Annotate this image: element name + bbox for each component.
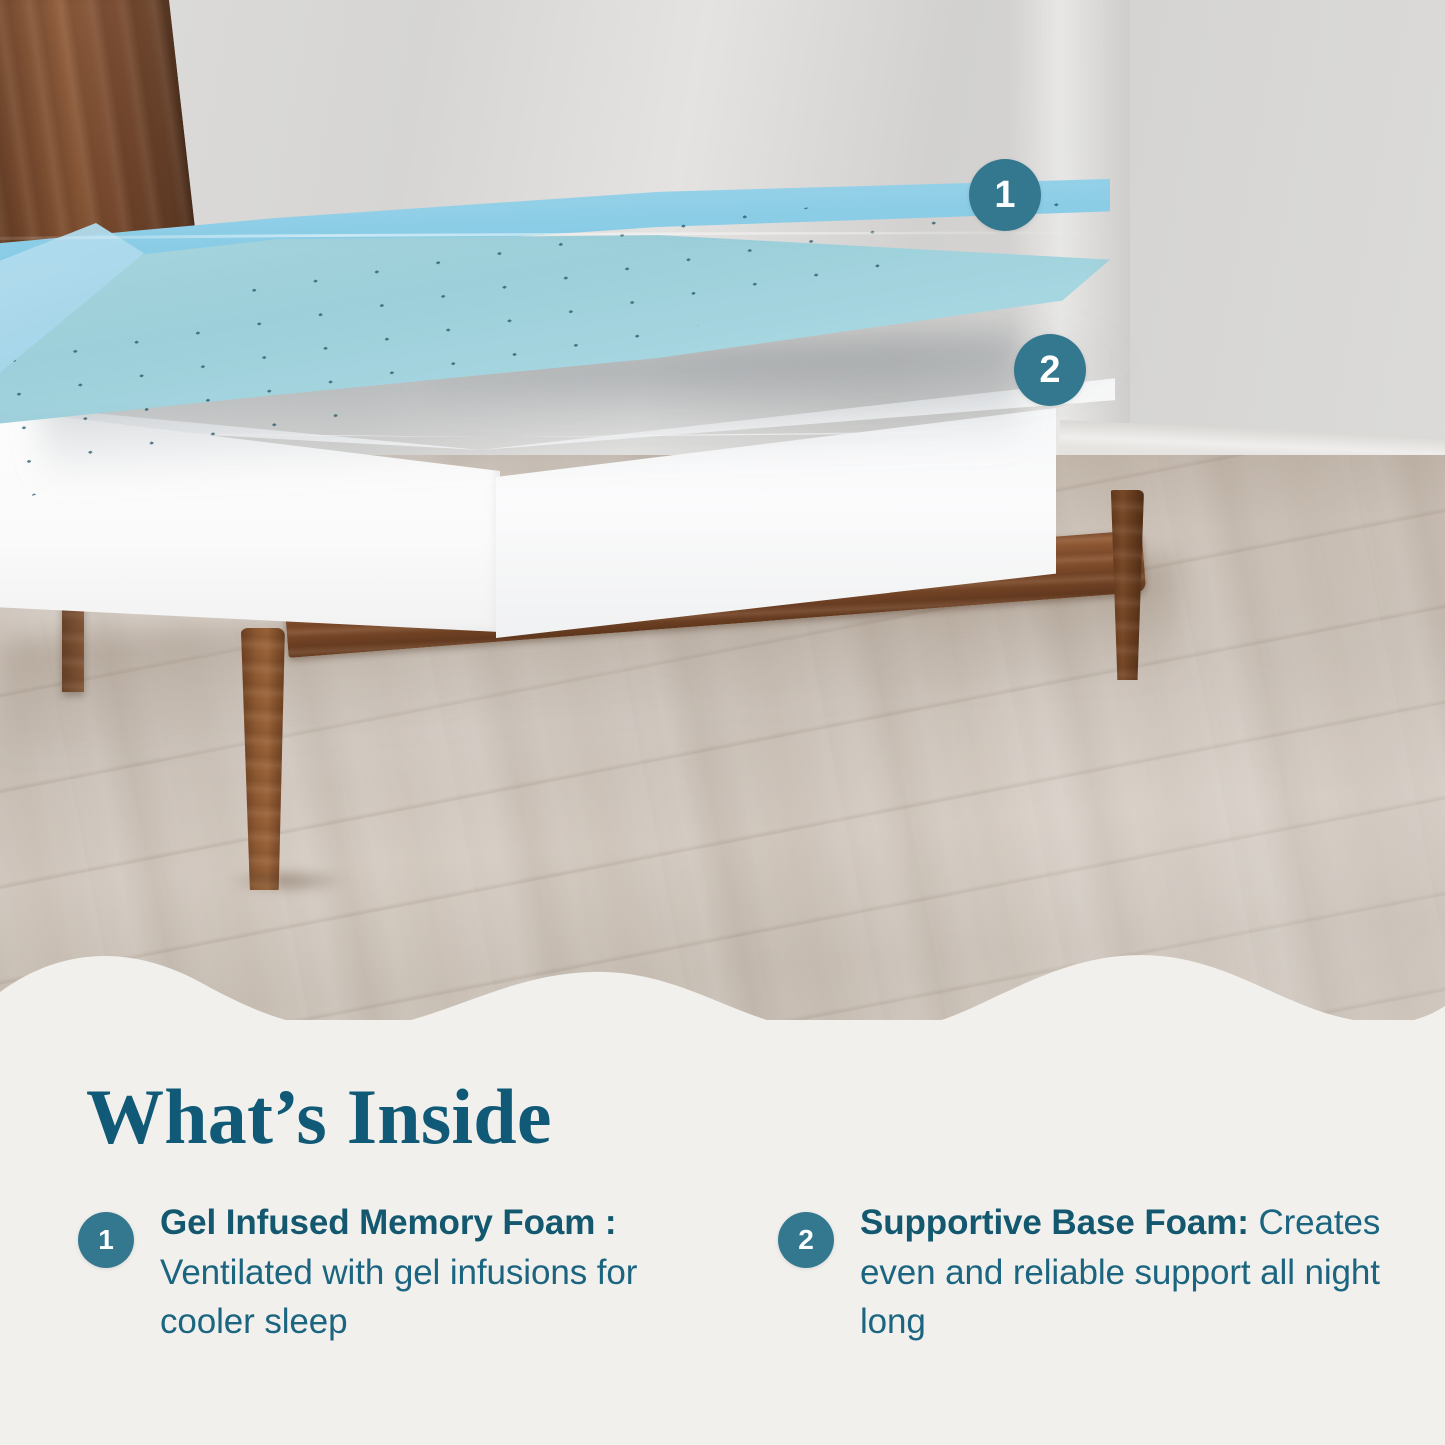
feature-text-2: Supportive Base Foam: Creates even and r… bbox=[860, 1198, 1385, 1347]
feature-text-1: Gel Infused Memory Foam : Ventilated wit… bbox=[160, 1198, 730, 1347]
feature-lead-1: Gel Infused Memory Foam : bbox=[160, 1203, 616, 1242]
whats-inside-panel: What’s Inside 1 Gel Infused Memory Foam … bbox=[0, 1020, 1445, 1445]
callout-badge-1-label: 1 bbox=[994, 174, 1015, 217]
page-title: What’s Inside bbox=[86, 1078, 552, 1156]
feature-body-1: Ventilated with gel infusions for cooler… bbox=[160, 1253, 637, 1342]
feature-badge-1: 1 bbox=[78, 1212, 134, 1268]
feature-badge-2: 2 bbox=[778, 1212, 834, 1268]
gel-infused-memory-foam-layer bbox=[0, 175, 1130, 445]
feature-list: 1 Gel Infused Memory Foam : Ventilated w… bbox=[0, 1198, 1445, 1347]
whats-inside-infographic: 1 2 What’s Inside 1 Gel Infused Memory F… bbox=[0, 0, 1445, 1445]
product-photo: 1 2 bbox=[0, 0, 1445, 1030]
feature-badge-1-label: 1 bbox=[98, 1224, 114, 1256]
callout-badge-2-label: 2 bbox=[1039, 349, 1060, 392]
feature-lead-2: Supportive Base Foam: bbox=[860, 1203, 1249, 1242]
callout-badge-1[interactable]: 1 bbox=[969, 159, 1041, 231]
callout-badge-2[interactable]: 2 bbox=[1014, 334, 1086, 406]
feature-item-1: 1 Gel Infused Memory Foam : Ventilated w… bbox=[0, 1198, 760, 1347]
feature-badge-2-label: 2 bbox=[798, 1224, 814, 1256]
feature-item-2: 2 Supportive Base Foam: Creates even and… bbox=[760, 1198, 1445, 1347]
bed-leg-front-shadow bbox=[228, 868, 348, 894]
